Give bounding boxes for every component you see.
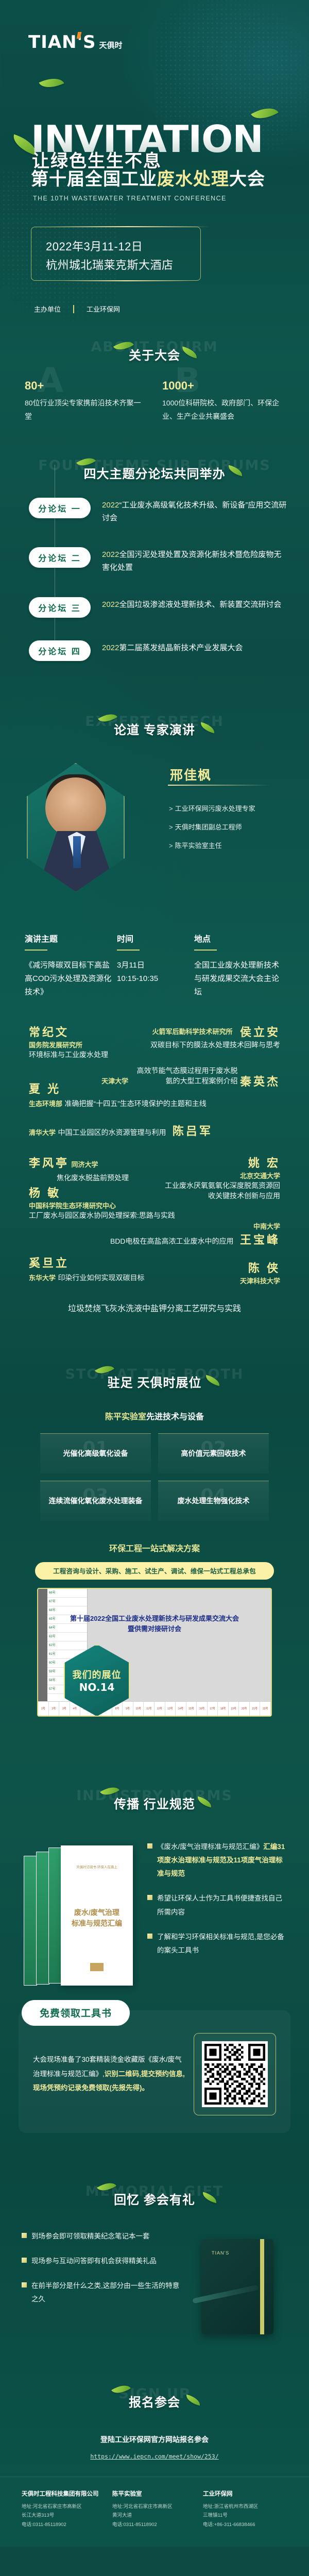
book-image: 天俱时订阅书 环保人在路上 废水/废气治理标准与规范汇编	[21, 1838, 139, 1993]
forums-section: FOUR THEME SUB FORUMS 四大主题分论坛共同举办 分论坛 一 …	[0, 444, 309, 704]
gift-bullets: 到场参会即可领取精美纪念笔记本一套 现场参与互动问答即有机会获得精美礼品 在前半…	[22, 2230, 183, 2318]
footer-company-name: 天俱时工程科技集团有限公司	[22, 2489, 106, 2498]
booth-card[interactable]: 01 光催化高级氧化设备	[40, 1433, 151, 1473]
expert-org: 同济大学	[71, 1161, 98, 1168]
expert-right-block: 火箭军后勤科学技术研究所 侯立安 双碳目标下的膜法水处理技术回眸与思考	[110, 1023, 280, 1050]
date-venue-box: 2022年3月11-12日 杭州城北瑞莱克斯大酒店	[31, 227, 201, 281]
title-highlight: 废水处理	[157, 170, 229, 189]
expert-org: 东华大学	[29, 1274, 56, 1282]
host-row: 主办单位 工业环保网	[34, 304, 120, 314]
expert-name: 李风亭	[29, 1157, 69, 1170]
list-item: 现场参与互动问答即有机会获得精美礼品	[22, 2255, 183, 2268]
footer-company-name: 工业环保网	[203, 2489, 287, 2498]
forum-title: 第二届蒸发结晶新技术产业发展大会	[119, 643, 243, 652]
divider	[194, 950, 217, 951]
forum-badge: 分论坛 三	[29, 597, 91, 618]
gift-section: MEMORIAL GIFT 回忆 参会有礼 到场参会即可领取精美纪念笔记本一套 …	[0, 2174, 309, 2341]
conference-title-english: THE 10TH WASTEWATER TREATMENT CONFERENCE	[33, 195, 227, 202]
expert-name: 常纪文	[29, 1023, 108, 1040]
speaker-role: >工业环保网污废水处理专家	[169, 803, 255, 813]
speaker-roles: >工业环保网污废水处理专家 >天俱时集团副总工程师 >陈平实验室主任	[169, 803, 255, 859]
booth-card[interactable]: 03 连续流催化氧化废水处理装备	[40, 1481, 151, 1521]
forum-title: 全国垃圾渗滤液处理新技术、新装置交流研讨会	[119, 600, 281, 609]
divider	[117, 950, 140, 951]
booth-subtitle: 陈平实验室先进技术与设备	[0, 1410, 309, 1422]
expert-org: 国务院发展研究所	[29, 1040, 108, 1049]
page-footer: 天俱时工程科技集团有限公司 地址:河北省石家庄市高新区长江大道313号电话:03…	[0, 2477, 309, 2547]
booth-card[interactable]: 02 高价值元素回收技术	[158, 1433, 269, 1473]
expert-name: 王宝峰	[240, 1233, 280, 1246]
footer-column: 天俱时工程科技集团有限公司 地址:河北省石家庄市高新区长江大道313号电话:03…	[22, 2489, 106, 2530]
book-cover: 天俱时订阅书 环保人在路上 废水/废气治理标准与规范汇编	[61, 1845, 133, 1986]
host-label: 主办单位	[34, 304, 61, 314]
expert-left-block: 清华大学 中国工业园区的水资源管理与利用 陈吕军	[29, 1122, 213, 1139]
footer-contact: 地址:浙江省杭州市西湖区三墩镇11号电话:+86-311-66838466	[203, 2502, 287, 2530]
booth-card-label: 光催化高级氧化设备	[63, 1448, 128, 1459]
expert-list-item: 中南大学 BDD电极在高盐高浓工业废水中的应用 王宝峰	[0, 1221, 309, 1254]
register-heading: SIGN UP 报名参会	[0, 2377, 309, 2426]
about-stats: A 80+ 80位行业顶尖专家携前沿技术齐聚一堂 B 1000+ 1000位科研…	[0, 379, 309, 423]
expert-topic: 双碳目标下的膜法水处理技术回眸与思考	[110, 1040, 280, 1050]
notebook-logo: TIAN'S	[212, 2250, 229, 2256]
about-stat-desc: 80位行业顶尖专家携前沿技术齐聚一堂	[25, 397, 147, 423]
expert-name: 杨 敏	[29, 1184, 175, 1200]
onestop-title: 环保工程一站式解决方案	[0, 1541, 309, 1554]
forum-year: 2022	[102, 550, 119, 559]
brand-logo: TIAN'S 天俱时	[28, 32, 123, 53]
talk-time-header: 时间	[117, 932, 194, 944]
booth-cell-highlight: 14号	[176, 1702, 186, 1716]
invitation-page: TIAN'S 天俱时 INVITATION 让绿色生生不息 第十届全国工业废水处…	[0, 0, 309, 2547]
conference-venue: 杭州城北瑞莱克斯大酒店	[46, 256, 174, 273]
booth-cell: 18号	[218, 1702, 229, 1716]
featured-speaker: 邢佳枫 >工业环保网污废水处理专家 >天俱时集团副总工程师 >陈平实验室主任	[0, 754, 309, 929]
forum-item[interactable]: 分论坛 二 2022全国污泥处理处置及资源化新技术暨危险废物无害化处置	[0, 547, 309, 574]
divider	[73, 305, 74, 313]
expert-org: 火箭军后勤科学技术研究所	[152, 1026, 233, 1036]
chevron-right-icon: >	[169, 805, 173, 812]
talk-time-date: 3月11日	[117, 959, 194, 972]
forum-badge: 分论坛 四	[29, 640, 91, 661]
divider	[25, 950, 47, 951]
forum-year: 2022	[102, 643, 119, 652]
footer-column: 工业环保网 地址:浙江省杭州市西湖区三墩镇11号电话:+86-311-66838…	[203, 2489, 287, 2530]
norms-bullet-plain: 《废水/废气治理标准与规范汇编》	[157, 1843, 263, 1851]
booth-cell: 20号	[239, 1702, 250, 1716]
expert-topic-wrap: 垃圾焚烧飞灰水洗液中盐钾分离工艺研究与实践	[0, 1301, 309, 1314]
bullet-square-icon	[22, 2258, 27, 2263]
host-name: 工业环保网	[87, 304, 120, 314]
floorplan-strip	[38, 1589, 47, 1716]
footer-column: 陈平实验室 地址:河北省石家庄市高新区黄河大道电话:0311-85118902	[112, 2489, 197, 2530]
expert-left-block: 奚旦立 东华大学 印染行业如何实现双碳目标	[29, 1254, 144, 1283]
norms-book-row: 天俱时订阅书 环保人在路上 废水/废气治理标准与规范汇编 《废水/废气治理标准与…	[0, 1828, 309, 1993]
expert-left-block: 常纪文 国务院发展研究所 环境标准与工业废水处理	[29, 1023, 108, 1060]
talk-details: 演讲主题 《减污降碳双目标下高盐高COD污水处理及资源化技术》 时间 3月11日…	[0, 932, 309, 999]
expert-left-block: 杨 敏 中国科学院生态环境研究中心 工厂废水与园区废水协同处理探索:思路与实践	[29, 1184, 175, 1221]
forums-heading-cn: 四大主题分论坛共同举办	[0, 464, 309, 482]
talk-time-col: 时间 3月11日 10:15-10:35	[117, 932, 194, 999]
forum-title: “工业废水高级氧化技术升级、新设备”应用交流研讨会	[102, 501, 286, 522]
about-stat-number: 80+	[25, 379, 147, 393]
notebook-graphic: TIAN'S	[201, 2239, 273, 2334]
chevron-right-icon: >	[169, 842, 173, 850]
speaker-role-text: 天俱时集团副总工程师	[175, 823, 242, 831]
booth-cell: 16号	[197, 1702, 208, 1716]
forums-heading: FOUR THEME SUB FORUMS 四大主题分论坛共同举办	[0, 448, 309, 498]
forum-title: 全国污泥处理处置及资源化新技术暨危险废物无害化处置	[102, 550, 281, 572]
list-item: 了解和学习环保相关标准与规范,是您必备的案头工具书	[147, 1930, 288, 1958]
bullet-square-icon	[147, 1934, 152, 1939]
conference-title: 第十届全国工业废水处理大会	[31, 165, 265, 190]
expert-list: 常纪文 国务院发展研究所 环境标准与工业废水处理 火箭军后勤科学技术研究所 侯立…	[0, 999, 309, 1326]
expert-right-block: 陈 侠 天津科技大学	[177, 1259, 280, 1285]
expert-name: 姚 宏	[162, 1154, 280, 1171]
expert-heading-cn: 论道 专家演讲	[0, 720, 309, 738]
bullet-square-icon	[22, 2282, 27, 2287]
expert-topic: 环境标准与工业废水处理	[29, 1049, 108, 1060]
talk-topic-col: 演讲主题 《减污降碳双目标下高盐高COD污水处理及资源化技术》	[25, 932, 117, 999]
book-cover-top: 天俱时订阅书 环保人在路上	[61, 1864, 133, 1869]
onestop-banner: 工程咨询与设计、采购、施工、试生产、调试、维保一站式工程总承包	[35, 1562, 274, 1580]
forum-badge: 分论坛 一	[29, 498, 91, 518]
forum-item[interactable]: 分论坛 一 2022“工业废水高级氧化技术升级、新设备”应用交流研讨会	[0, 498, 309, 525]
expert-name: 夏 光	[29, 1080, 207, 1096]
floorplan-title: 第十届2022全国工业废水处理新技术与研发成果交流大会暨供需对接研讨会	[70, 1614, 239, 1635]
gift-row: 到场参会即可领取精美纪念笔记本一套 现场参与互动问答即有机会获得精美礼品 在前半…	[0, 2224, 309, 2341]
booth-subtitle-hl: 陈平实验室	[105, 1413, 146, 1421]
forum-item[interactable]: 分论坛 四 2022第二届蒸发结晶新技术产业发展大会	[0, 640, 309, 661]
booth-cell: 19号	[229, 1702, 239, 1716]
footer-contact: 地址:河北省石家庄市高新区黄河大道电话:0311-85118902	[112, 2502, 197, 2530]
hero-section: TIAN'S 天俱时 INVITATION 让绿色生生不息 第十届全国工业废水处…	[0, 0, 309, 330]
bullet-square-icon	[147, 1843, 152, 1849]
list-item: 66号	[47, 1589, 87, 1598]
forum-text: 2022全国垃圾渗滤液处理新技术、新装置交流研讨会	[102, 597, 281, 612]
logo-text: TIAN'S	[28, 32, 96, 53]
about-stat-number: 1000+	[162, 379, 284, 393]
register-instruction: 登陆工业环保网官方网站报名参会	[22, 2434, 287, 2445]
speaker-role: >陈平实验室主任	[169, 840, 255, 850]
expert-list-item: 常纪文 国务院发展研究所 环境标准与工业废水处理 火箭军后勤科学技术研究所 侯立…	[0, 1023, 309, 1062]
speaker-portrait	[27, 763, 125, 892]
booth-section: STOP AT THE BOOTH 驻足 天俱时展位 陈平实验室先进技术与设备 …	[0, 1357, 309, 1717]
book-spine	[48, 1848, 62, 1984]
floorplan-bottom-row: 1号2号3号4号5号6号7号8号9号10号11号12号13号14号15号16号1…	[38, 1701, 271, 1716]
expert-left-block: 李风亭 同济大学 焦化废水脱盐前预处理	[29, 1154, 129, 1183]
expert-name: 陈吕军	[173, 1125, 213, 1138]
forum-text: 2022“工业废水高级氧化技术升级、新设备”应用交流研讨会	[102, 498, 288, 525]
expert-org: 北京交通大学	[162, 1171, 280, 1180]
booth-card-label: 高价值元素回收技术	[181, 1448, 246, 1459]
booth-cell: 2号	[49, 1702, 60, 1716]
expert-list-item: 奚旦立 东华大学 印染行业如何实现双碳目标 陈 侠 天津科技大学 垃圾焚烧飞灰水…	[0, 1254, 309, 1321]
talk-time-range: 10:15-10:35	[117, 972, 194, 986]
list-item: 62号	[47, 1641, 87, 1650]
expert-right-block: 中南大学 BDD电极在高盐高浓工业废水中的应用 王宝峰	[84, 1221, 280, 1247]
floorplan-image[interactable]: 66号67号68号65号64号63号62号61号60号59号58号57号 第十届…	[37, 1588, 272, 1717]
booth-cell: 1号	[38, 1702, 49, 1716]
bullet-square-icon	[22, 2233, 27, 2238]
expert-right-block: 姚 宏 北京交通大学 工业废水厌氧氨氧化深度脱氮资源回收关键技术创新与应用	[162, 1154, 280, 1201]
booth-cell: 12号	[154, 1702, 165, 1716]
norms-bullet-text: 希望让环保人士作为工具书便捷查找自己所需内容	[157, 1892, 288, 1919]
talk-place-value: 全国工业废水处理新技术与研发成果交流大会主论坛	[194, 959, 284, 999]
footer-contact: 地址:河北省石家庄市高新区长江大道313号电话:0311-85118902	[22, 2502, 106, 2530]
forum-text: 2022第二届蒸发结晶新技术产业发展大会	[102, 640, 243, 655]
booth-cell: 21号	[250, 1702, 261, 1716]
book-spine	[24, 1856, 37, 1986]
booth-subtitle-rest: 先进技术与设备	[146, 1413, 204, 1421]
expert-name: 秦英杰	[240, 1073, 280, 1089]
expert-name: 奚旦立	[29, 1254, 144, 1270]
norms-bullet-text: 了解和学习环保相关标准与规范,是您必备的案头工具书	[157, 1930, 288, 1958]
talk-place-header: 地点	[194, 932, 284, 944]
free-book-row: 大会现场准备了30套精装烫金收藏版《废水/废气治理标准与规范汇编》,识别二维码,…	[33, 2033, 276, 2115]
booth-card[interactable]: 04 废水处理生物强化技术	[158, 1481, 269, 1521]
expert-topic: 准确把握“十四五”生态环境保护的主题和主线	[64, 1099, 206, 1108]
expert-topic: 工业废水厌氧氨氧化深度脱氮资源回收关键技术创新与应用	[162, 1180, 280, 1201]
about-stat-desc: 1000位科研院校、政府部门、环保企业、生产企业共襄盛会	[162, 397, 284, 423]
booth-cell: 9号	[123, 1702, 133, 1716]
expert-list-item: 李风亭 同济大学 焦化废水脱盐前预处理 姚 宏 北京交通大学 工业废水厌氧氨氧化…	[0, 1154, 309, 1221]
expert-name: 侯立安	[240, 1023, 280, 1040]
speaker-role: >天俱时集团副总工程师	[169, 822, 255, 832]
talk-topic-header: 演讲主题	[25, 932, 117, 944]
qr-code-frame[interactable]	[194, 2033, 276, 2115]
norms-heading: INDUSTRY NORMS 传播 行业规范	[0, 1778, 309, 1828]
forum-year: 2022	[102, 501, 119, 510]
book-spine	[36, 1852, 49, 1985]
free-book-section: 免费领取工具书 大会现场准备了30套精装烫金收藏版《废水/废气治理标准与规范汇编…	[0, 2010, 309, 2133]
norms-bullet-text: 《废水/废气治理标准与规范汇编》汇编31项废水治理标准与规范及11项废气治理标准…	[157, 1840, 288, 1881]
speaker-role-text: 陈平实验室主任	[175, 842, 222, 850]
expert-heading: EXPERT SPEECH 论道 专家演讲	[0, 704, 309, 754]
expert-org: 清华大学	[29, 1129, 56, 1137]
expert-name: 陈 侠	[177, 1259, 280, 1276]
forum-year: 2022	[102, 600, 119, 609]
expert-speech-section: EXPERT SPEECH 论道 专家演讲 邢佳枫 >工业环保网污废水处理专家 …	[0, 704, 309, 1342]
norms-heading-cn: 传播 行业规范	[0, 1794, 309, 1812]
forum-text: 2022全国污泥处理处置及资源化新技术暨危险废物无害化处置	[102, 547, 288, 574]
booth-cell: 15号	[186, 1702, 197, 1716]
booth-cell: 3号	[59, 1702, 70, 1716]
register-section: SIGN UP 报名参会 登陆工业环保网官方网站报名参会 https://www…	[0, 2377, 309, 2461]
portrait-face	[45, 777, 106, 838]
speaker-name: 邢佳枫	[170, 765, 212, 784]
chevron-right-icon: >	[169, 823, 173, 831]
our-booth-label: 我们的展位	[73, 1668, 122, 1681]
norms-section: INDUSTRY NORMS 传播 行业规范 天俱时订阅书 环保人在路上 废水/…	[0, 1778, 309, 1993]
about-stat-item: B 1000+ 1000位科研院校、政府部门、环保企业、生产企业共襄盛会	[162, 379, 284, 423]
booth-card-label: 废水处理生物强化技术	[178, 1496, 250, 1506]
list-item: 希望让环保人士作为工具书便捷查找自己所需内容	[147, 1892, 288, 1919]
booth-cards: 01 光催化高级氧化设备 02 高价值元素回收技术 03 连续流催化氧化废水处理…	[0, 1433, 309, 1521]
expert-left-block: 夏 光 生态环境部 准确把握“十四五”生态环境保护的主题和主线	[29, 1080, 207, 1109]
expert-topic: 中国工业园区的水资源管理与利用	[58, 1128, 166, 1137]
norms-bullets: 《废水/废气治理标准与规范汇编》汇编31项废水治理标准与规范及11项废气治理标准…	[147, 1838, 288, 1969]
expert-org: 生态环境部	[29, 1100, 62, 1108]
expert-org: 中国科学院生态环境研究中心	[29, 1200, 175, 1210]
register-box: 登陆工业环保网官方网站报名参会 https://www.iepcn.com/me…	[22, 2434, 287, 2461]
free-book-text: 大会现场准备了30套精装烫金收藏版《废水/废气治理标准与规范汇编》,识别二维码,…	[33, 2053, 185, 2095]
about-section: ABOUT FOURM 关于大会 A 80+ 80位行业顶尖专家携前沿技术齐聚一…	[0, 330, 309, 444]
notebook-band	[260, 2239, 264, 2334]
register-link[interactable]: https://www.iepcn.com/meet/show/253/	[90, 2453, 218, 2460]
booth-cell: 11号	[144, 1702, 154, 1716]
title-suffix: 大会	[229, 170, 265, 189]
gift-image: TIAN'S	[192, 2230, 287, 2341]
booth-cell: 10号	[133, 1702, 144, 1716]
booth-card-label: 连续流催化氧化废水处理装备	[49, 1496, 143, 1506]
list-item: 在前半部分是什么之类,这部分由一些生活的特意之久	[22, 2279, 183, 2307]
booth-cell: 13号	[165, 1702, 176, 1716]
expert-org: 天津科技大学	[177, 1276, 280, 1285]
speaker-underline	[168, 785, 271, 786]
booth-heading-cn: 驻足 天俱时展位	[0, 1372, 309, 1391]
expert-org: 中南大学	[84, 1221, 280, 1231]
expert-topic: BDD电极在高盐高浓工业废水中的应用	[110, 1237, 234, 1245]
gift-heading-cn: 回忆 参会有礼	[0, 2190, 309, 2208]
gift-bullet-text: 在前半部分是什么之类,这部分由一些生活的特意之久	[31, 2279, 183, 2307]
booth-heading: STOP AT THE BOOTH 驻足 天俱时展位	[0, 1357, 309, 1406]
our-booth-number: NO.14	[79, 1681, 115, 1693]
list-item: 到场参会即可领取精美纪念笔记本一套	[22, 2230, 183, 2243]
booth-cell: 17号	[208, 1702, 218, 1716]
footer-company-name: 陈平实验室	[112, 2489, 197, 2498]
talk-place-col: 地点 全国工业废水处理新技术与研发成果交流大会主论坛	[194, 932, 284, 999]
expert-topic: 工厂废水与园区废水协同处理探索:思路与实践	[29, 1210, 175, 1221]
book-cover-logo	[90, 1963, 104, 1971]
gift-bullet-text: 现场参与互动问答即有机会获得精美礼品	[31, 2255, 157, 2268]
title-prefix: 第十届全国工业	[31, 170, 157, 189]
expert-list-item: 清华大学 中国工业园区的水资源管理与利用 陈吕军	[0, 1118, 309, 1154]
conference-date: 2022年3月11-12日	[46, 238, 143, 254]
forum-item[interactable]: 分论坛 三 2022全国垃圾渗滤液处理新技术、新装置交流研讨会	[0, 597, 309, 618]
list-item: 《废水/废气治理标准与规范汇编》汇编31项废水治理标准与规范及11项废气治理标准…	[147, 1840, 288, 1881]
portrait-tie	[73, 836, 81, 868]
expert-topic: 垃圾焚烧飞灰水洗液中盐钾分离工艺研究与实践	[68, 1304, 241, 1313]
gift-bullet-text: 到场参会即可领取精美纪念笔记本一套	[31, 2230, 150, 2243]
expert-list-item: 天津大学 高效节能气态膜过程用于废水脱氨的大型工程案例介绍 秦英杰 夏 光 生态…	[0, 1062, 309, 1118]
speaker-role-text: 工业环保网污废水处理专家	[175, 805, 255, 812]
about-stat-item: A 80+ 80位行业顶尖专家携前沿技术齐聚一堂	[25, 379, 147, 423]
forum-badge: 分论坛 二	[29, 547, 91, 568]
logo-chinese: 天俱时	[99, 40, 123, 53]
free-book-card: 免费领取工具书 大会现场准备了30套精装烫金收藏版《废水/废气治理标准与规范汇编…	[19, 2010, 290, 2133]
list-item: 67号	[47, 1598, 87, 1606]
booth-cell: 22号	[260, 1702, 271, 1716]
bullet-square-icon	[147, 1895, 152, 1900]
talk-topic-value: 《减污降碳双目标下高盐高COD污水处理及资源化技术》	[25, 959, 117, 999]
qr-code-icon[interactable]	[202, 2041, 268, 2107]
free-book-pill: 免费领取工具书	[22, 2000, 130, 2026]
book-cover-title: 废水/废气治理标准与规范汇编	[61, 1907, 133, 1929]
expert-topic: 印染行业如何实现双碳目标	[58, 1274, 144, 1282]
leaf-icon	[39, 73, 64, 93]
expert-topic: 焦化废水脱盐前预处理	[29, 1173, 129, 1183]
register-heading-cn: 报名参会	[0, 2392, 309, 2410]
gift-heading: MEMORIAL GIFT 回忆 参会有礼	[0, 2174, 309, 2224]
